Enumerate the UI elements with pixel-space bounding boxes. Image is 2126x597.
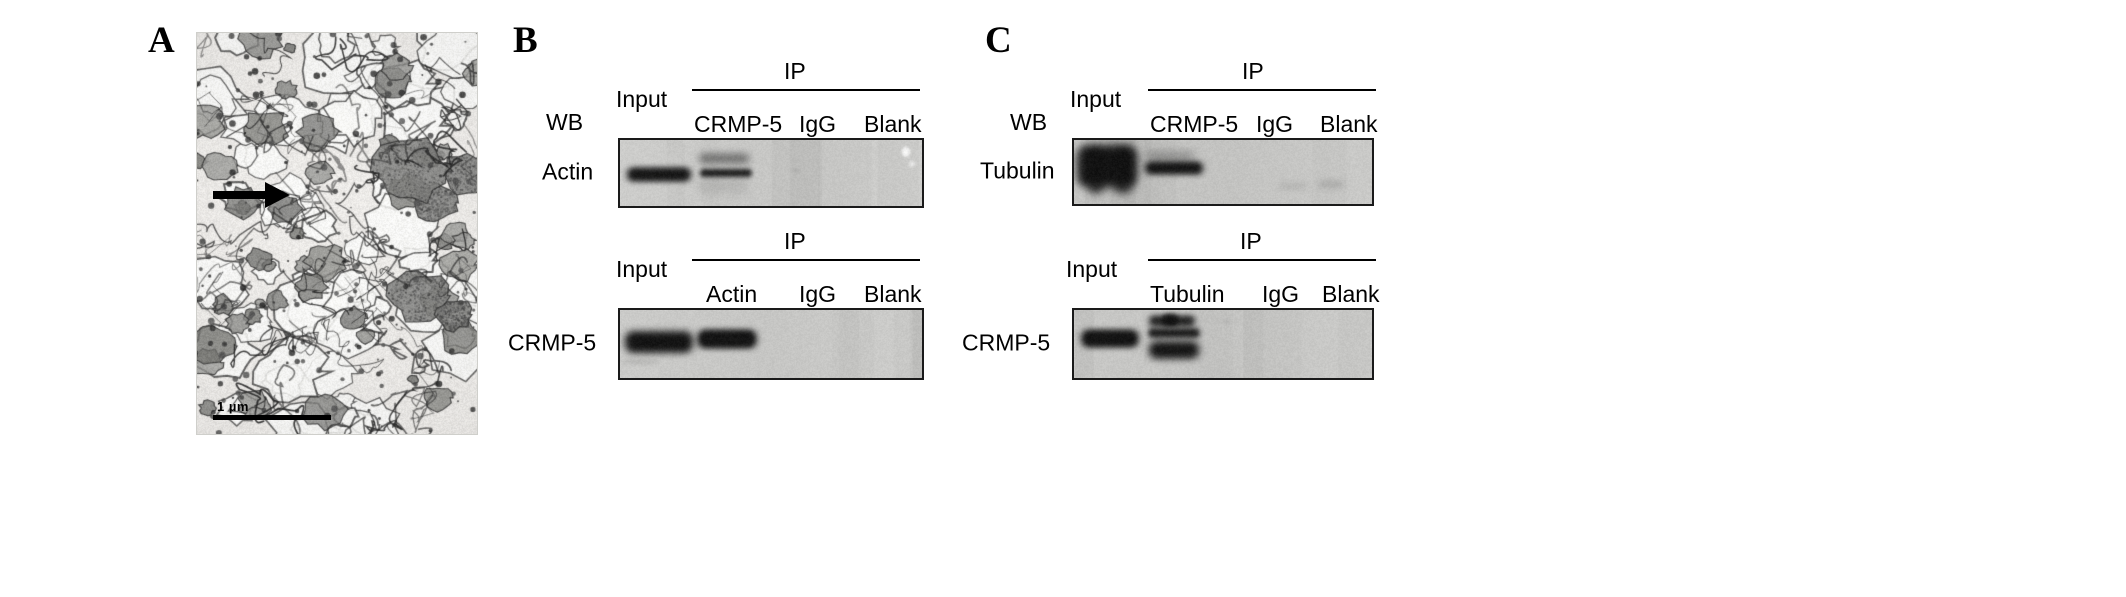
figure-root: A 1 µm B WB Input IP CRMP-5 I [0,0,2126,597]
ip-lane-label-2: IgG [799,283,836,306]
wb-label: WB [1010,111,1047,134]
scale-bar-line [213,415,331,420]
ip-lane-label-2: IgG [1262,283,1299,306]
input-lane-label: Input [1066,258,1117,281]
blot-image-b-crmp5 [618,308,924,380]
blot-b-crmp5-canvas [620,310,922,378]
input-lane-label: Input [616,258,667,281]
blot-header-c-crmp5: Input IP Tubulin IgG Blank [1010,230,1410,308]
panel-letter-a: A [148,22,175,59]
ip-group-rule [1148,259,1376,261]
blot-header-b-actin: WB Input IP CRMP-5 IgG Blank [546,60,946,138]
blot-row-b-crmp5: CRMP-5 [546,308,946,378]
ip-lane-label-3: Blank [864,113,922,136]
ip-lane-label-3: Blank [864,283,922,306]
blot-group-b-crmp5: Input IP Actin IgG Blank CRMP-5 [546,230,946,378]
ip-lane-label-1: CRMP-5 [694,113,782,136]
blot-probe-label-crmp5: CRMP-5 [962,332,1050,355]
blot-image-b-actin [618,138,924,208]
blot-group-c-tubulin: WB Input IP CRMP-5 IgG Blank Tubulin [1010,60,1410,204]
blot-probe-label-tubulin: Tubulin [980,160,1055,183]
panel-b-blots: WB Input IP CRMP-5 IgG Blank Actin Input… [546,60,946,390]
blot-c-crmp5-canvas [1074,310,1372,378]
panel-a-micrograph: 1 µm [196,32,478,435]
blot-image-c-tubulin [1072,138,1374,206]
blot-row-b-actin: Actin [546,138,946,206]
blot-header-b-crmp5: Input IP Actin IgG Blank [546,230,946,308]
pointer-arrow-icon [213,180,291,210]
input-lane-label: Input [616,88,667,111]
ip-group-label: IP [1242,60,1264,83]
ip-group-label: IP [1240,230,1262,253]
ip-lane-label-2: IgG [1256,113,1293,136]
ip-lane-label-1: CRMP-5 [1150,113,1238,136]
blot-group-b-actin: WB Input IP CRMP-5 IgG Blank Actin [546,60,946,206]
blot-row-c-crmp5: CRMP-5 [1010,308,1410,378]
ip-group-label: IP [784,60,806,83]
scale-bar: 1 µm [213,400,335,420]
panel-letter-b: B [513,22,538,59]
ip-lane-label-3: Blank [1320,113,1378,136]
blot-image-c-crmp5 [1072,308,1374,380]
panel-c-blots: WB Input IP CRMP-5 IgG Blank Tubulin Inp… [1010,60,1410,390]
ip-lane-label-2: IgG [799,113,836,136]
scale-bar-label: 1 µm [217,400,335,413]
blot-b-actin-canvas [620,140,922,206]
ip-group-label: IP [784,230,806,253]
ip-group-rule [1148,89,1376,91]
wb-label: WB [546,111,583,134]
blot-header-c-tubulin: WB Input IP CRMP-5 IgG Blank [1010,60,1410,138]
ip-lane-label-1: Tubulin [1150,283,1225,306]
electron-micrograph-image [197,33,478,435]
ip-group-rule [692,259,920,261]
ip-lane-label-3: Blank [1322,283,1380,306]
blot-group-c-crmp5: Input IP Tubulin IgG Blank CRMP-5 [1010,230,1410,378]
electron-micrograph-frame: 1 µm [196,32,478,435]
blot-c-tubulin-canvas [1074,140,1372,204]
ip-lane-label-1: Actin [706,283,757,306]
blot-probe-label-crmp5: CRMP-5 [508,332,596,355]
blot-row-c-tubulin: Tubulin [1010,138,1410,204]
ip-group-rule [692,89,920,91]
input-lane-label: Input [1070,88,1121,111]
panel-letter-c: C [985,22,1012,59]
blot-probe-label-actin: Actin [542,161,593,184]
